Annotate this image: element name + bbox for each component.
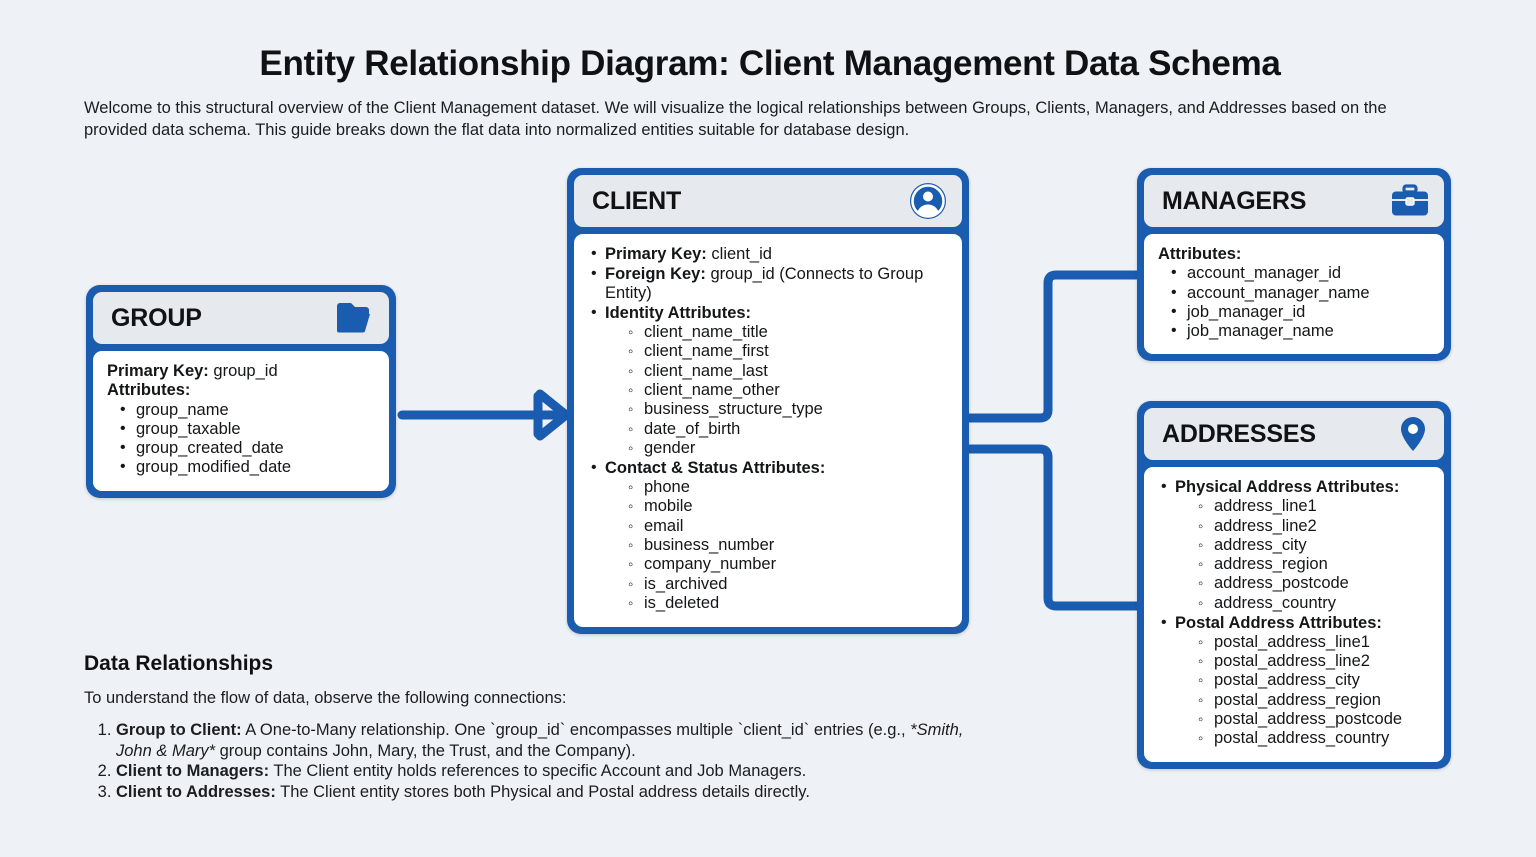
list-item: phone	[628, 478, 948, 497]
list-item: postal_address_region	[1198, 691, 1430, 710]
entity-addresses-title: ADDRESSES	[1162, 420, 1316, 449]
managers-attribute-list: account_manager_id account_manager_name …	[1158, 264, 1430, 341]
relationship-label: Client to Managers:	[116, 762, 269, 780]
list-item: Group to Client: A One-to-Many relations…	[116, 720, 984, 761]
client-contact-group: Contact & Status Attributes: phone mobil…	[588, 459, 948, 613]
relationships-list: Group to Client: A One-to-Many relations…	[84, 720, 984, 802]
relationship-label: Group to Client:	[116, 721, 242, 739]
entity-client-header: CLIENT	[574, 175, 962, 227]
briefcase-icon	[1390, 183, 1430, 219]
list-item: group_modified_date	[120, 458, 375, 477]
list-item: address_country	[1198, 594, 1430, 613]
entity-group[interactable]: GROUP Primary Key: group_id Attributes: …	[86, 285, 396, 498]
addresses-physical-label: Physical Address Attributes:	[1175, 478, 1399, 496]
addresses-physical-group: Physical Address Attributes: address_lin…	[1158, 478, 1430, 613]
entity-client[interactable]: CLIENT Primary Key: client_id Foreign Ke…	[567, 168, 969, 634]
entity-managers-title: MANAGERS	[1162, 187, 1306, 216]
addresses-postal-group: Postal Address Attributes: postal_addres…	[1158, 614, 1430, 749]
entity-group-header: GROUP	[93, 292, 389, 344]
group-attribute-list: group_name group_taxable group_created_d…	[107, 401, 375, 478]
entity-client-body: Primary Key: client_id Foreign Key: grou…	[574, 234, 962, 627]
list-item: Client to Addresses: The Client entity s…	[116, 782, 984, 803]
crowfoot-prong-top	[540, 394, 566, 415]
client-foreign-key-label: Foreign Key:	[605, 265, 706, 283]
list-item: is_deleted	[628, 594, 948, 613]
list-item: group_name	[120, 401, 375, 420]
client-contact-list: phone mobile email business_number compa…	[605, 478, 948, 613]
client-attribute-list: Primary Key: client_id Foreign Key: grou…	[588, 245, 948, 613]
client-identity-group: Identity Attributes: client_name_title c…	[588, 304, 948, 458]
list-item: account_manager_id	[1171, 264, 1430, 283]
entity-group-title: GROUP	[111, 304, 202, 333]
entity-managers-body: Attributes: account_manager_id account_m…	[1144, 234, 1444, 354]
addresses-physical-list: address_line1 address_line2 address_city…	[1175, 497, 1430, 613]
addresses-postal-list: postal_address_line1 postal_address_line…	[1175, 633, 1430, 749]
entity-addresses[interactable]: ADDRESSES Physical Address Attributes: a…	[1137, 401, 1451, 769]
entity-group-body: Primary Key: group_id Attributes: group_…	[93, 351, 389, 491]
relationship-label: Client to Addresses:	[116, 783, 276, 801]
list-item: business_structure_type	[628, 400, 948, 419]
entity-addresses-body: Physical Address Attributes: address_lin…	[1144, 467, 1444, 762]
list-item: job_manager_id	[1171, 303, 1430, 322]
list-item: address_line2	[1198, 517, 1430, 536]
wire-client-addresses	[968, 449, 1138, 606]
list-item: address_postcode	[1198, 574, 1430, 593]
client-identity-list: client_name_title client_name_first clie…	[605, 323, 948, 458]
list-item: group_created_date	[120, 439, 375, 458]
client-primary-key-row: Primary Key: client_id	[588, 245, 948, 264]
group-primary-key-row: Primary Key: group_id	[107, 362, 375, 381]
client-contact-label: Contact & Status Attributes:	[605, 459, 825, 477]
entity-managers[interactable]: MANAGERS Attributes: account_manager_id …	[1137, 168, 1451, 361]
list-item: date_of_birth	[628, 420, 948, 439]
list-item: group_taxable	[120, 420, 375, 439]
entity-managers-header: MANAGERS	[1144, 175, 1444, 227]
relationships-heading: Data Relationships	[84, 652, 273, 676]
list-item: account_manager_name	[1171, 284, 1430, 303]
managers-attributes-label: Attributes:	[1158, 245, 1430, 264]
map-pin-icon	[1396, 414, 1430, 454]
diagram-canvas: Entity Relationship Diagram: Client Mana…	[0, 0, 1536, 857]
list-item: Client to Managers: The Client entity ho…	[116, 761, 984, 782]
list-item: job_manager_name	[1171, 322, 1430, 341]
list-item: client_name_title	[628, 323, 948, 342]
wire-client-managers	[968, 275, 1138, 418]
entity-client-title: CLIENT	[592, 187, 681, 216]
page-title: Entity Relationship Diagram: Client Mana…	[84, 44, 1456, 84]
client-identity-label: Identity Attributes:	[605, 304, 751, 322]
relationships-lead: To understand the flow of data, observe …	[84, 689, 566, 708]
crowfoot-prong-bottom	[540, 415, 566, 436]
addresses-postal-label: Postal Address Attributes:	[1175, 614, 1382, 632]
client-foreign-key-row: Foreign Key: group_id (Connects to Group…	[588, 265, 948, 304]
list-item: postal_address_country	[1198, 729, 1430, 748]
list-item: client_name_first	[628, 342, 948, 361]
list-item: address_line1	[1198, 497, 1430, 516]
list-item: gender	[628, 439, 948, 458]
folder-icon	[335, 301, 375, 335]
list-item: client_name_other	[628, 381, 948, 400]
client-primary-key-value: client_id	[711, 245, 772, 263]
list-item: client_name_last	[628, 362, 948, 381]
entity-addresses-header: ADDRESSES	[1144, 408, 1444, 460]
list-item: postal_address_postcode	[1198, 710, 1430, 729]
list-item: business_number	[628, 536, 948, 555]
list-item: is_archived	[628, 575, 948, 594]
client-primary-key-label: Primary Key:	[605, 245, 707, 263]
group-primary-key-label: Primary Key:	[107, 362, 209, 380]
list-item: postal_address_line1	[1198, 633, 1430, 652]
user-circle-icon	[908, 181, 948, 221]
list-item: address_region	[1198, 555, 1430, 574]
list-item: postal_address_line2	[1198, 652, 1430, 671]
list-item: email	[628, 517, 948, 536]
group-attributes-label: Attributes:	[107, 381, 375, 400]
group-primary-key-value: group_id	[213, 362, 277, 380]
addresses-attribute-list: Physical Address Attributes: address_lin…	[1158, 478, 1430, 749]
list-item: mobile	[628, 497, 948, 516]
list-item: postal_address_city	[1198, 671, 1430, 690]
page-intro: Welcome to this structural overview of t…	[84, 98, 1414, 141]
list-item: address_city	[1198, 536, 1430, 555]
list-item: company_number	[628, 555, 948, 574]
